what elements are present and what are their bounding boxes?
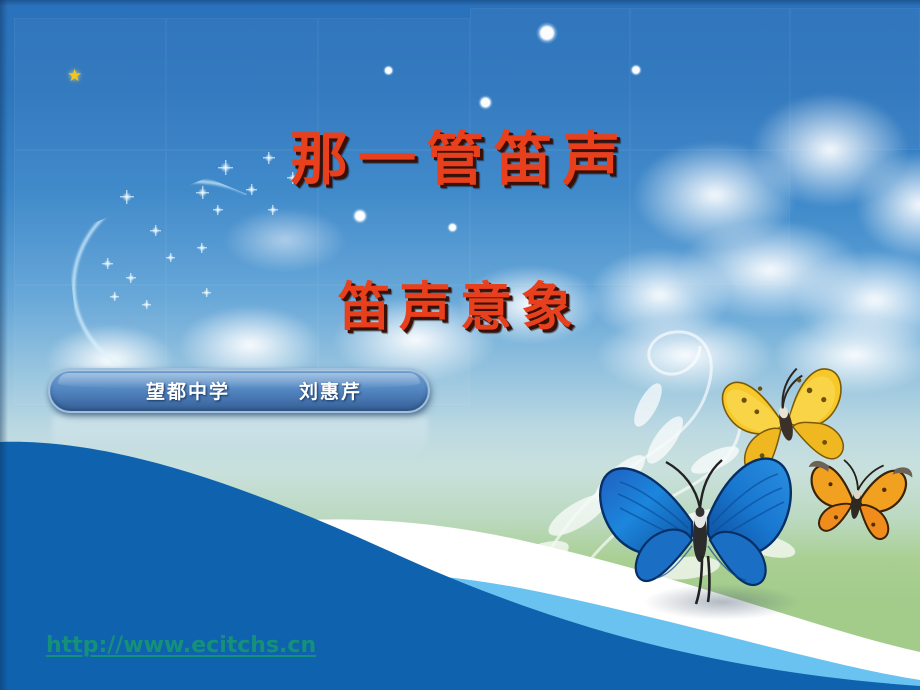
yellow-star-icon: ★ <box>67 68 82 85</box>
bokeh-light-dot <box>383 65 394 76</box>
left-edge-shading <box>0 0 8 690</box>
bokeh-light-dot <box>536 22 558 44</box>
page-title: 那一管笛声 <box>0 112 920 196</box>
sparkle-icon <box>268 205 278 215</box>
blue-morpho-butterfly-icon <box>592 444 804 624</box>
bokeh-light-dot <box>447 222 458 233</box>
sparkle-icon <box>213 205 223 215</box>
sparkle-icon <box>166 253 175 262</box>
bokeh-light-dot <box>478 95 493 110</box>
sparkle-icon <box>150 225 161 236</box>
website-url-link[interactable]: http://www.ecitchs.cn <box>46 633 316 658</box>
sparkle-icon <box>197 243 207 253</box>
bokeh-light-dot <box>352 208 368 224</box>
presentation-slide: ★ 那一管笛声 笛声意象 望都中学 刘惠芹 <box>0 0 920 690</box>
bokeh-light-dot <box>630 64 642 76</box>
top-edge-shading <box>0 0 920 6</box>
orange-butterfly-icon <box>798 448 914 554</box>
